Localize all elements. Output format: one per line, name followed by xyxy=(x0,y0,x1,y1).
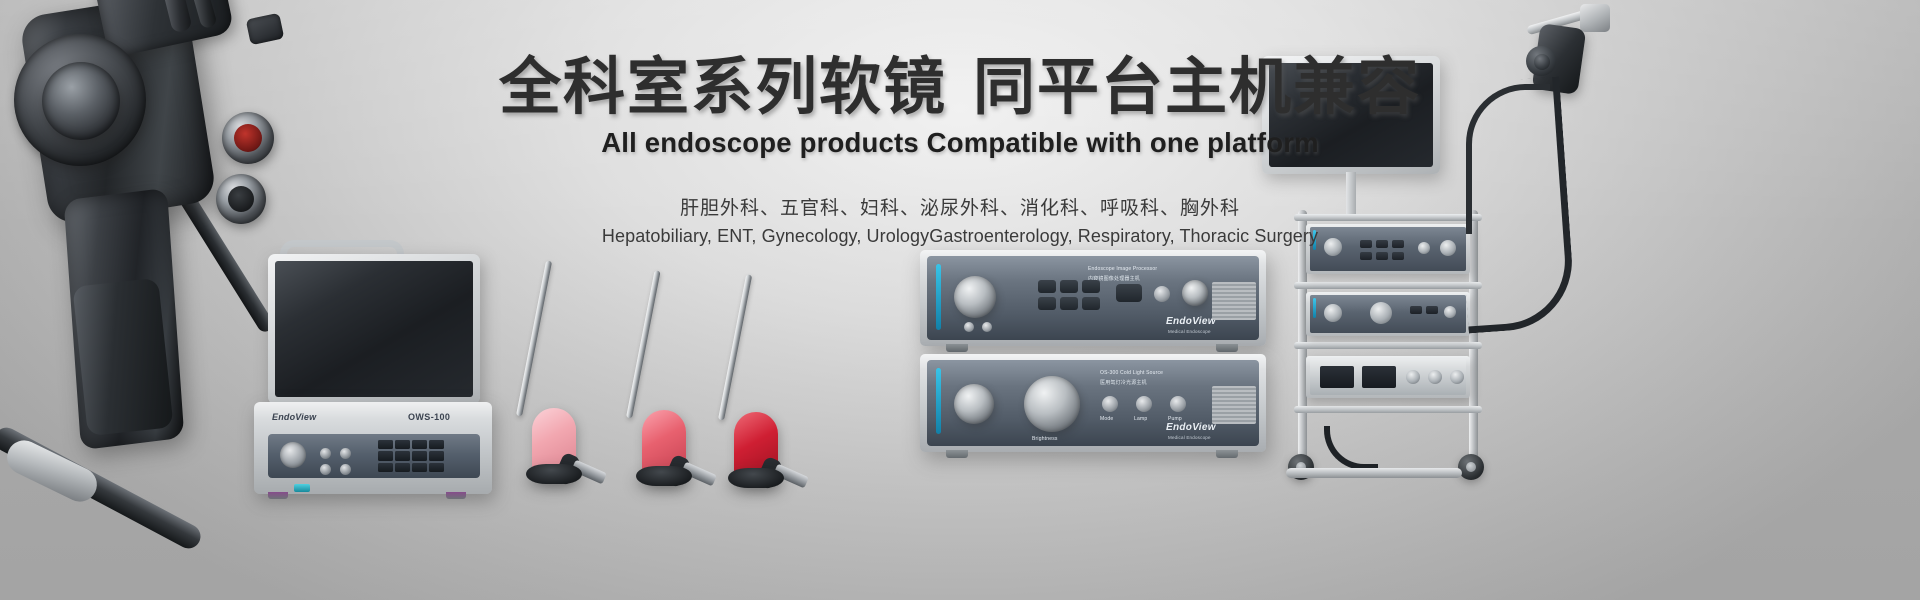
instrument-base xyxy=(526,464,582,484)
processor-foot-left xyxy=(946,344,968,352)
light-source-brand: EndoView xyxy=(1166,422,1216,433)
headline-part-2: 同平台主机兼容 xyxy=(973,50,1421,123)
console-keypad xyxy=(378,440,444,472)
console-indicator-3 xyxy=(320,464,331,475)
light-source-knob-label: Brightness xyxy=(1032,436,1058,442)
light-source-connector-port xyxy=(954,384,994,424)
console-screen-bezel xyxy=(268,254,480,404)
console-foot-right xyxy=(446,492,466,499)
cart-unit-1-key-5 xyxy=(1376,252,1388,260)
console-screen xyxy=(275,261,473,397)
instrument-base xyxy=(636,466,692,486)
cart-light-cable xyxy=(1324,426,1378,470)
processor-button-2 xyxy=(1060,280,1078,293)
processor-brand-sub: Medical Endoscope xyxy=(1168,329,1211,334)
cart-wheel-right xyxy=(1458,454,1484,480)
console-indicator-4 xyxy=(340,464,351,475)
processor-stack-image: Endoscope Image Processor 内窥镜图像处理器主机 End… xyxy=(920,250,1280,460)
console-foot-left xyxy=(268,492,288,499)
processor-label-en: Endoscope Image Processor xyxy=(1088,266,1157,272)
cart-unit-1-key-4 xyxy=(1360,252,1372,260)
processor-button-5 xyxy=(1060,297,1078,310)
light-source-vent xyxy=(1212,386,1256,424)
specialties-chinese: 肝胆外科、五官科、妇科、泌尿外科、消化科、呼吸科、胸外科 xyxy=(0,193,1920,220)
processor-port-block xyxy=(1116,284,1142,302)
light-source-brightness-knob xyxy=(1024,376,1080,432)
subtitle-english: All endoscope products Compatible with o… xyxy=(0,127,1920,159)
monitor-console-image: EndoView OWS-100 xyxy=(232,236,502,500)
light-source-button-pump xyxy=(1170,396,1186,412)
processor-main-dial xyxy=(954,276,996,318)
instrument-shaft xyxy=(718,274,752,420)
processor-button-3 xyxy=(1082,280,1100,293)
cart-unit-3-dial-3 xyxy=(1450,370,1464,384)
laparoscopic-instrument-3 xyxy=(712,272,892,490)
cart-unit-3-dial xyxy=(1406,370,1420,384)
processor-secondary-dial xyxy=(1182,280,1208,306)
banner-text-block: 全科室系列软镜同平台主机兼容 All endoscope products Co… xyxy=(0,52,1920,247)
light-source-btn1-label: Mode xyxy=(1100,416,1113,422)
scope-clamp xyxy=(1580,4,1610,32)
light-source-button-lamp xyxy=(1136,396,1152,412)
cart-unit-2-port xyxy=(1324,304,1342,322)
light-source-foot-right xyxy=(1216,450,1238,458)
console-dial xyxy=(280,442,306,468)
processor-button-6 xyxy=(1082,297,1100,310)
light-source-foot-left xyxy=(946,450,968,458)
cart-unit-3-dial-2 xyxy=(1428,370,1442,384)
instrument-shaft xyxy=(516,260,552,416)
cart-unit-2-accent xyxy=(1313,298,1316,318)
specialties-english: Hepatobiliary, ENT, Gynecology, UrologyG… xyxy=(0,226,1920,247)
page-title: 全科室系列软镜同平台主机兼容 xyxy=(0,52,1920,121)
headline-part-1: 全科室系列软镜 xyxy=(499,50,947,123)
processor-vent xyxy=(1212,282,1256,320)
cart-unit-2-key-1 xyxy=(1410,306,1422,314)
processor-button-1 xyxy=(1038,280,1056,293)
light-source-brand-sub: Medical Endoscope xyxy=(1168,435,1211,440)
light-source-accent-strip xyxy=(936,368,941,434)
console-status-led xyxy=(294,484,310,492)
cart-unit-3-display xyxy=(1320,366,1354,388)
cart-unit-1-key-6 xyxy=(1392,252,1404,260)
instrument-shaft xyxy=(626,270,661,418)
console-brand-label: EndoView xyxy=(272,412,316,422)
console-model-label: OWS-100 xyxy=(408,412,450,422)
light-source-label-en: OS-300 Cold Light Source xyxy=(1100,370,1163,376)
processor-button-4 xyxy=(1038,297,1056,310)
light-source-label-cn: 医用氙灯冷光源主机 xyxy=(1100,379,1147,386)
processor-foot-right xyxy=(1216,344,1238,352)
processor-accent-strip xyxy=(936,264,941,330)
cart-unit-3-display-2 xyxy=(1362,366,1396,388)
instrument-base xyxy=(728,468,784,488)
processor-brand: EndoView xyxy=(1166,316,1216,327)
cart-shelf-4 xyxy=(1294,406,1482,413)
light-source-button-mode xyxy=(1102,396,1118,412)
cart-base-bar xyxy=(1286,468,1462,478)
processor-connector xyxy=(1154,286,1170,302)
processor-led-1 xyxy=(964,322,974,332)
console-indicator-1 xyxy=(320,448,331,459)
banner-root: EndoView OWS-100 xyxy=(0,0,1920,600)
light-source-btn2-label: Lamp xyxy=(1134,416,1147,422)
endoscope-grip xyxy=(72,278,173,436)
light-source-unit: Brightness OS-300 Cold Light Source 医用氙灯… xyxy=(920,354,1266,452)
endoscope-button xyxy=(246,13,285,46)
console-indicator-2 xyxy=(340,448,351,459)
cart-unit-2-knob xyxy=(1370,302,1392,324)
processor-led-2 xyxy=(982,322,992,332)
image-processor-unit: Endoscope Image Processor 内窥镜图像处理器主机 End… xyxy=(920,250,1266,346)
